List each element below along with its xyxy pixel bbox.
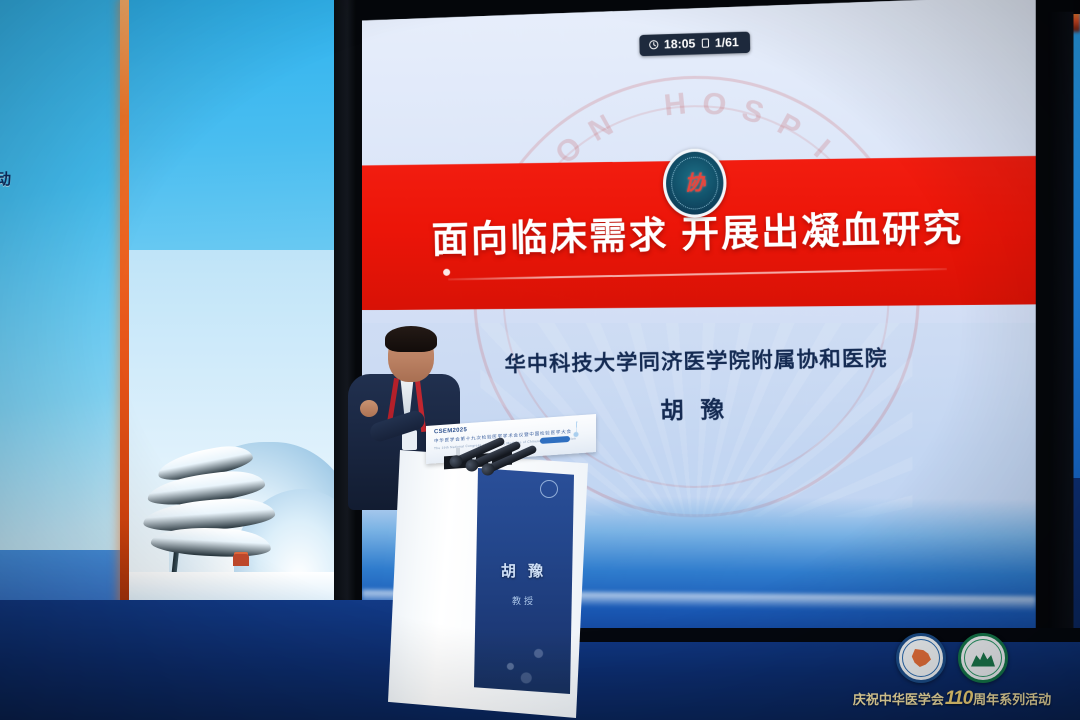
caption-suffix: 周年系列活动 bbox=[973, 689, 1051, 708]
presenter-hair bbox=[385, 326, 437, 352]
lectern: 胡 豫 教授 CSEM2025 中华医学会第十九次检验医学学术会议暨中国检验医学… bbox=[378, 420, 593, 720]
lectern-speaker-name: 胡 豫 bbox=[474, 560, 574, 581]
page-icon bbox=[700, 38, 709, 48]
organizer-logos bbox=[832, 633, 1072, 683]
presentation-timer-badge[interactable]: 18:05 1/61 bbox=[639, 32, 750, 57]
conference-stage-photo: 动 UNION HOSPITAL bbox=[0, 0, 1080, 720]
event-logo-bar: 庆祝中华医学会 110 周年系列活动 bbox=[832, 633, 1072, 710]
lectern-nameplate-panel: 胡 豫 教授 bbox=[474, 468, 574, 694]
led-sheen bbox=[0, 0, 120, 640]
lectern-logo-icon bbox=[540, 480, 558, 498]
winter-scene-image bbox=[129, 250, 334, 652]
emblem-mark: 协 bbox=[684, 167, 704, 196]
stage-floor-left bbox=[0, 600, 420, 720]
caption-anniversary-number: 110 bbox=[945, 688, 972, 710]
timer-elapsed: 18:05 bbox=[664, 36, 696, 51]
chinese-medical-association-logo bbox=[896, 633, 946, 683]
screen-right-bezel bbox=[1048, 11, 1073, 648]
left-led-panel bbox=[0, 0, 120, 640]
slide-page-counter: 1/61 bbox=[715, 35, 739, 50]
snowflake-icon bbox=[562, 420, 590, 448]
screen-left-bezel bbox=[334, 0, 356, 656]
left-led-partial-text: 动 bbox=[0, 168, 11, 189]
laboratory-medicine-logo bbox=[958, 633, 1008, 683]
caption-prefix: 庆祝中华医学会 bbox=[853, 689, 944, 708]
event-caption: 庆祝中华医学会 110 周年系列活动 bbox=[832, 688, 1072, 710]
presenter-hand bbox=[360, 400, 378, 417]
title-underline-dot bbox=[443, 268, 450, 275]
clock-icon bbox=[649, 40, 659, 50]
lectern-decor bbox=[484, 616, 572, 688]
orange-divider-strip bbox=[120, 0, 129, 648]
lectern-speaker-role: 教授 bbox=[474, 594, 574, 607]
hospital-emblem-icon: 协 bbox=[663, 148, 726, 217]
red-pavilion bbox=[233, 554, 249, 566]
lectern-banner-brand: CSEM2025 bbox=[434, 427, 467, 435]
